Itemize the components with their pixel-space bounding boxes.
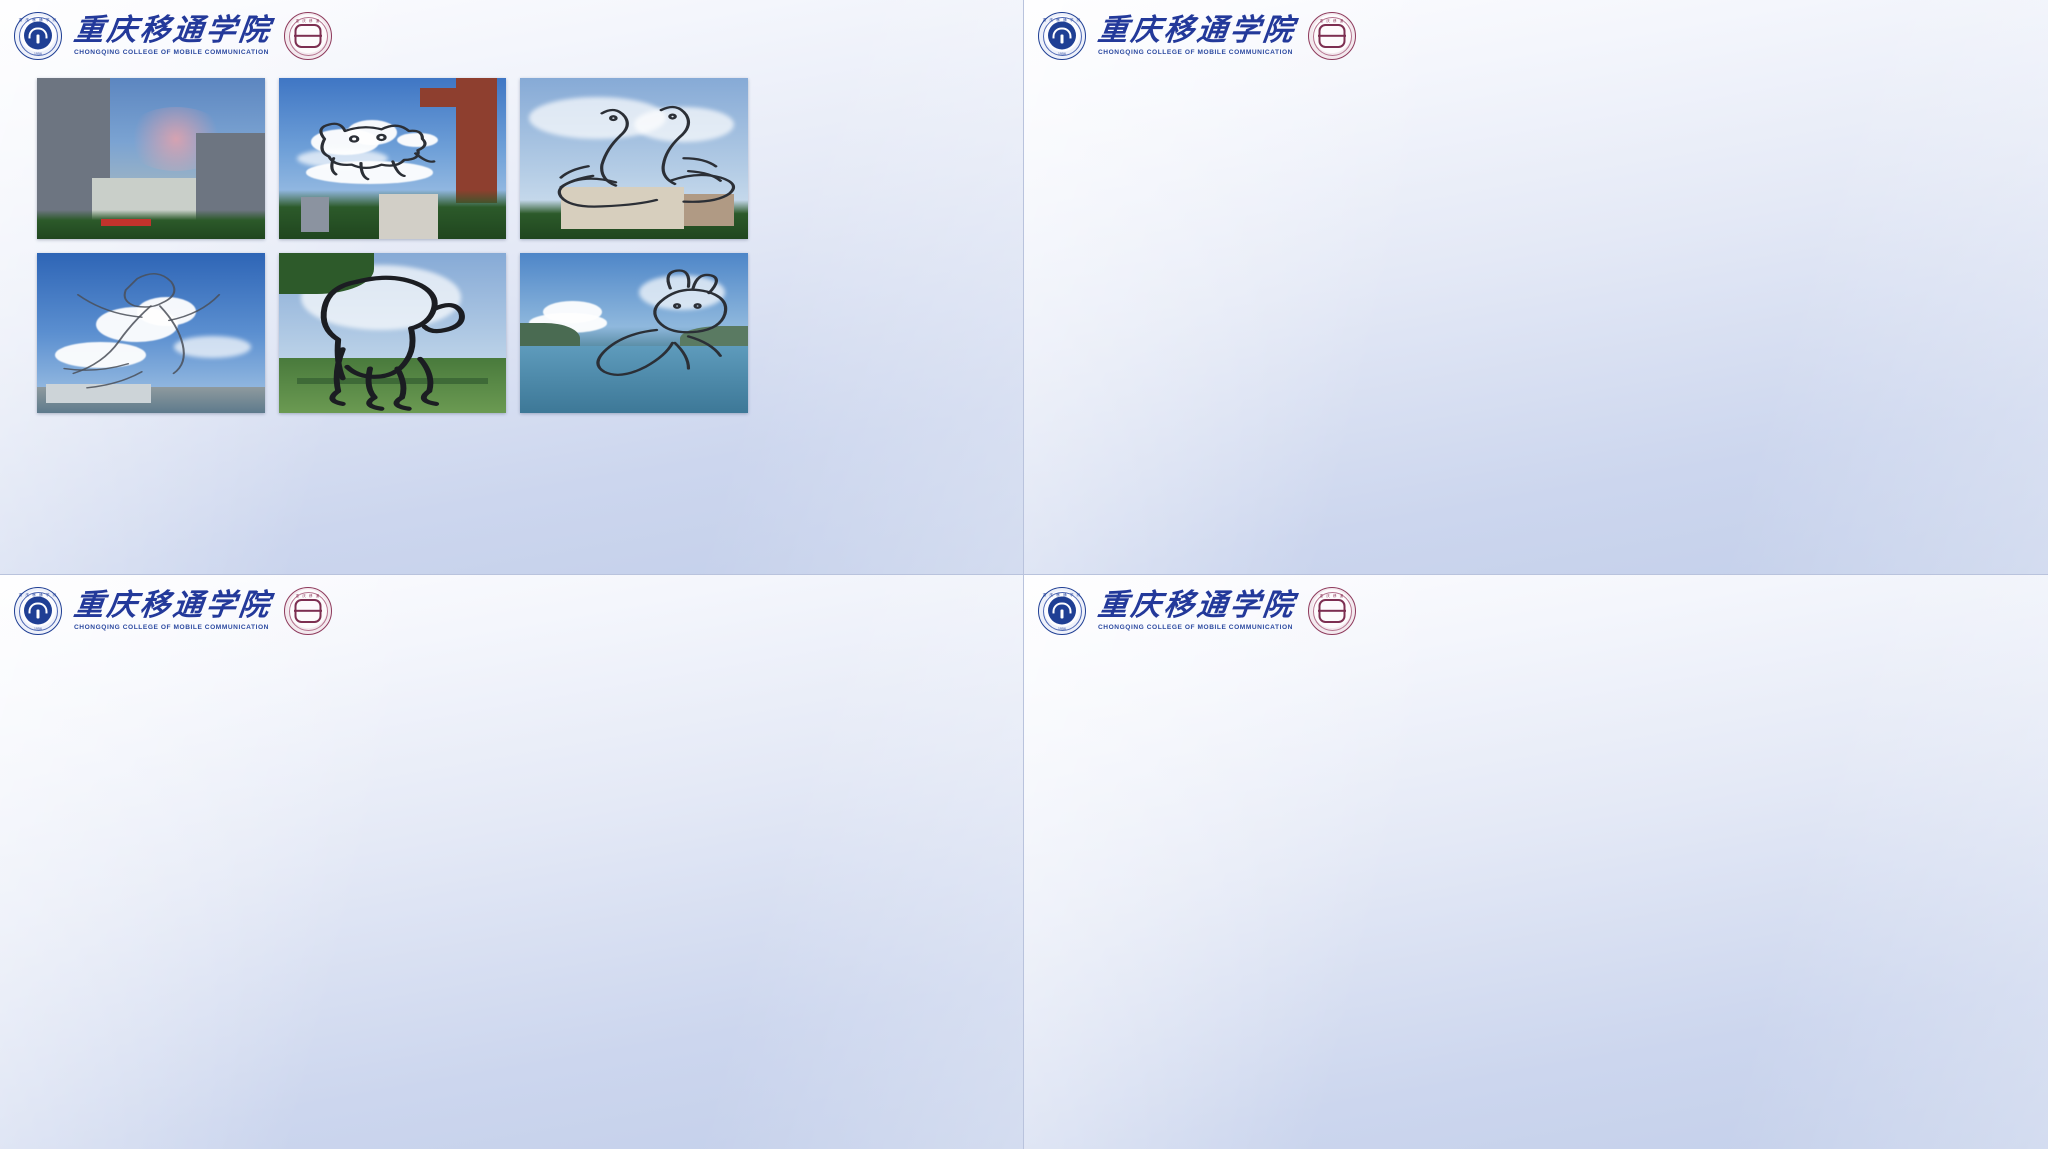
university-seal-icon: 重 庆 移 通 学 院 1956	[14, 12, 62, 60]
seal-bottom-text: 1956	[34, 627, 42, 631]
university-name-cn: 重庆移通学院	[1096, 16, 1298, 47]
wordmark: 重庆移通学院 CHONGQING COLLEGE OF MOBILE COMMU…	[74, 16, 272, 56]
photo-1-6[interactable]	[520, 253, 748, 414]
university-seal-icon: 重 庆 移 通 学 院 1956	[14, 587, 62, 635]
seal-bottom-text: 1956	[1058, 52, 1066, 56]
emblem-top-text: 重 庆 移 通	[296, 593, 321, 598]
brand-lockup: 重 庆 移 通 学 院 1956 重庆移通学院 CHONGQING COLLEG…	[14, 12, 332, 60]
photo-grid-1	[37, 78, 748, 413]
photo-1-5[interactable]	[279, 253, 507, 414]
brand-lockup: 重 庆 移 通 学 院 1956 重庆移通学院 CHONGQING COLLEG…	[1038, 587, 1356, 635]
university-name-cn: 重庆移通学院	[1096, 591, 1298, 622]
university-name-en: CHONGQING COLLEGE OF MOBILE COMMUNICATIO…	[74, 50, 272, 57]
photo-1-2[interactable]	[279, 78, 507, 239]
slide-deck: 重 庆 移 通 学 院 1956 重庆移通学院 CHONGQING COLLEG…	[0, 0, 2048, 1149]
wordmark: 重庆移通学院 CHONGQING COLLEGE OF MOBILE COMMU…	[1098, 591, 1296, 631]
university-name-en: CHONGQING COLLEGE OF MOBILE COMMUNICATIO…	[1098, 50, 1296, 57]
emblem-top-text: 重 庆 移 通	[296, 18, 321, 23]
university-name-cn: 重庆移通学院	[72, 16, 274, 47]
slide-bottom-left[interactable]: 重 庆 移 通 学 院 1956 重庆移通学院 CHONGQING COLLEG…	[0, 575, 1024, 1149]
cat-cloud-doodle	[279, 78, 507, 239]
slide-bottom-right[interactable]: 重 庆 移 通 学 院 1956 重庆移通学院 CHONGQING COLLEG…	[1024, 575, 2048, 1149]
e-emblem-icon: 重 庆 移 通	[284, 587, 332, 635]
photo-1-4[interactable]	[37, 253, 265, 414]
emblem-top-text: 重 庆 移 通	[1320, 593, 1345, 598]
university-name-en: CHONGQING COLLEGE OF MOBILE COMMUNICATIO…	[74, 625, 272, 632]
emblem-top-text: 重 庆 移 通	[1320, 18, 1345, 23]
university-name-cn: 重庆移通学院	[72, 591, 274, 622]
rabbit-cloud-doodle	[520, 253, 748, 414]
e-emblem-icon: 重 庆 移 通	[1308, 587, 1356, 635]
swan-pair-doodle	[520, 78, 748, 239]
e-emblem-icon: 重 庆 移 通	[284, 12, 332, 60]
university-seal-icon: 重 庆 移 通 学 院 1956	[1038, 587, 1086, 635]
elephant-outline-doodle	[279, 253, 507, 414]
photo-1-1[interactable]	[37, 78, 265, 239]
brand-lockup: 重 庆 移 通 学 院 1956 重庆移通学院 CHONGQING COLLEG…	[1038, 12, 1356, 60]
university-name-en: CHONGQING COLLEGE OF MOBILE COMMUNICATIO…	[1098, 625, 1296, 632]
flying-figure-doodle	[37, 253, 265, 414]
wordmark: 重庆移通学院 CHONGQING COLLEGE OF MOBILE COMMU…	[1098, 16, 1296, 56]
slide-top-right[interactable]: 重 庆 移 通 学 院 1956 重庆移通学院 CHONGQING COLLEG…	[1024, 0, 2048, 575]
seal-bottom-text: 1956	[34, 52, 42, 56]
brand-lockup: 重 庆 移 通 学 院 1956 重庆移通学院 CHONGQING COLLEG…	[14, 587, 332, 635]
university-seal-icon: 重 庆 移 通 学 院 1956	[1038, 12, 1086, 60]
wordmark: 重庆移通学院 CHONGQING COLLEGE OF MOBILE COMMU…	[74, 591, 272, 631]
e-emblem-icon: 重 庆 移 通	[1308, 12, 1356, 60]
slide-top-left[interactable]: 重 庆 移 通 学 院 1956 重庆移通学院 CHONGQING COLLEG…	[0, 0, 1024, 575]
photo-1-3[interactable]	[520, 78, 748, 239]
seal-bottom-text: 1956	[1058, 627, 1066, 631]
